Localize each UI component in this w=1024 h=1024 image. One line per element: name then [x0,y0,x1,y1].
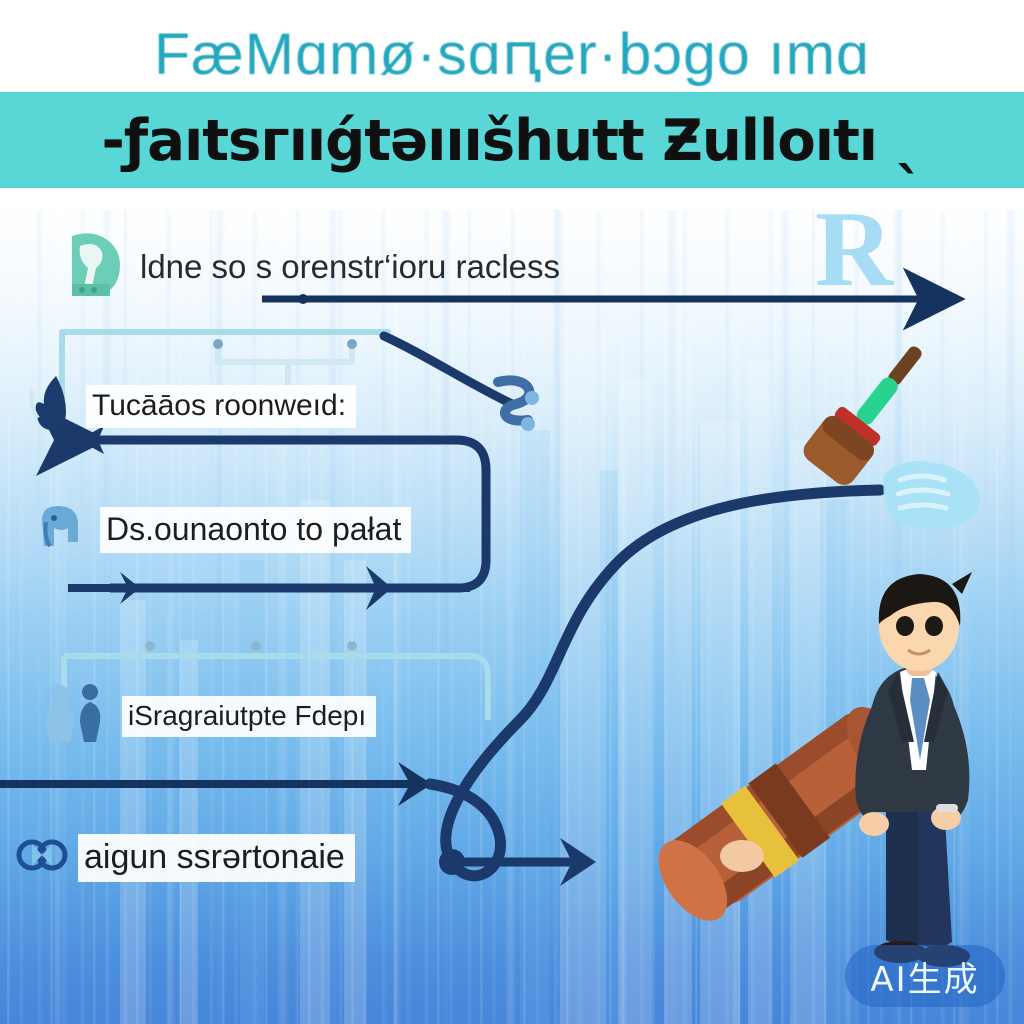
list-item-label: ldne so s orenstr‘ioru racless [134,244,570,291]
list-item[interactable]: Tucāāos roonweıd: [26,372,356,441]
list-item[interactable]: aigun ssrərtonaie [14,830,355,885]
blue-people-icon [40,680,114,753]
poster-canvas: FæMɑmø·sɑԥer·bɔɡo ımɑ -ƒаıtsгııǵtəıııšhu… [0,0,1024,1024]
ai-watermark: AI生成 [845,945,1005,1007]
list-item[interactable]: Ds.ounaonto to pałat [34,498,411,561]
page-title: FæMɑmø·sɑԥer·bɔɡo ımɑ [0,16,1024,92]
blue-elephant-icon [34,498,92,561]
list-item[interactable]: ldne so s orenstr‘ioru racless [62,228,570,307]
list-item-label: Ds.ounaonto to pałat [100,507,411,553]
blue-infinity-icon [14,830,70,885]
list-item-label: Tucāāos roonweıd: [86,385,356,428]
page-subtitle: -ƒаıtsгııǵtəıııšhutt Ƶulloıtı ˎ [0,89,1024,191]
teal-blob-icon [62,228,126,307]
list-item[interactable]: iSragraiutpte Fdepı [40,680,376,753]
list-item-label: iSragraiutpte Fdepı [122,696,376,737]
letter-r-marker: R [815,196,893,304]
navy-flame-icon [26,372,78,441]
background-city-streaks [0,210,1024,1024]
list-item-label: aigun ssrərtonaie [78,834,355,882]
